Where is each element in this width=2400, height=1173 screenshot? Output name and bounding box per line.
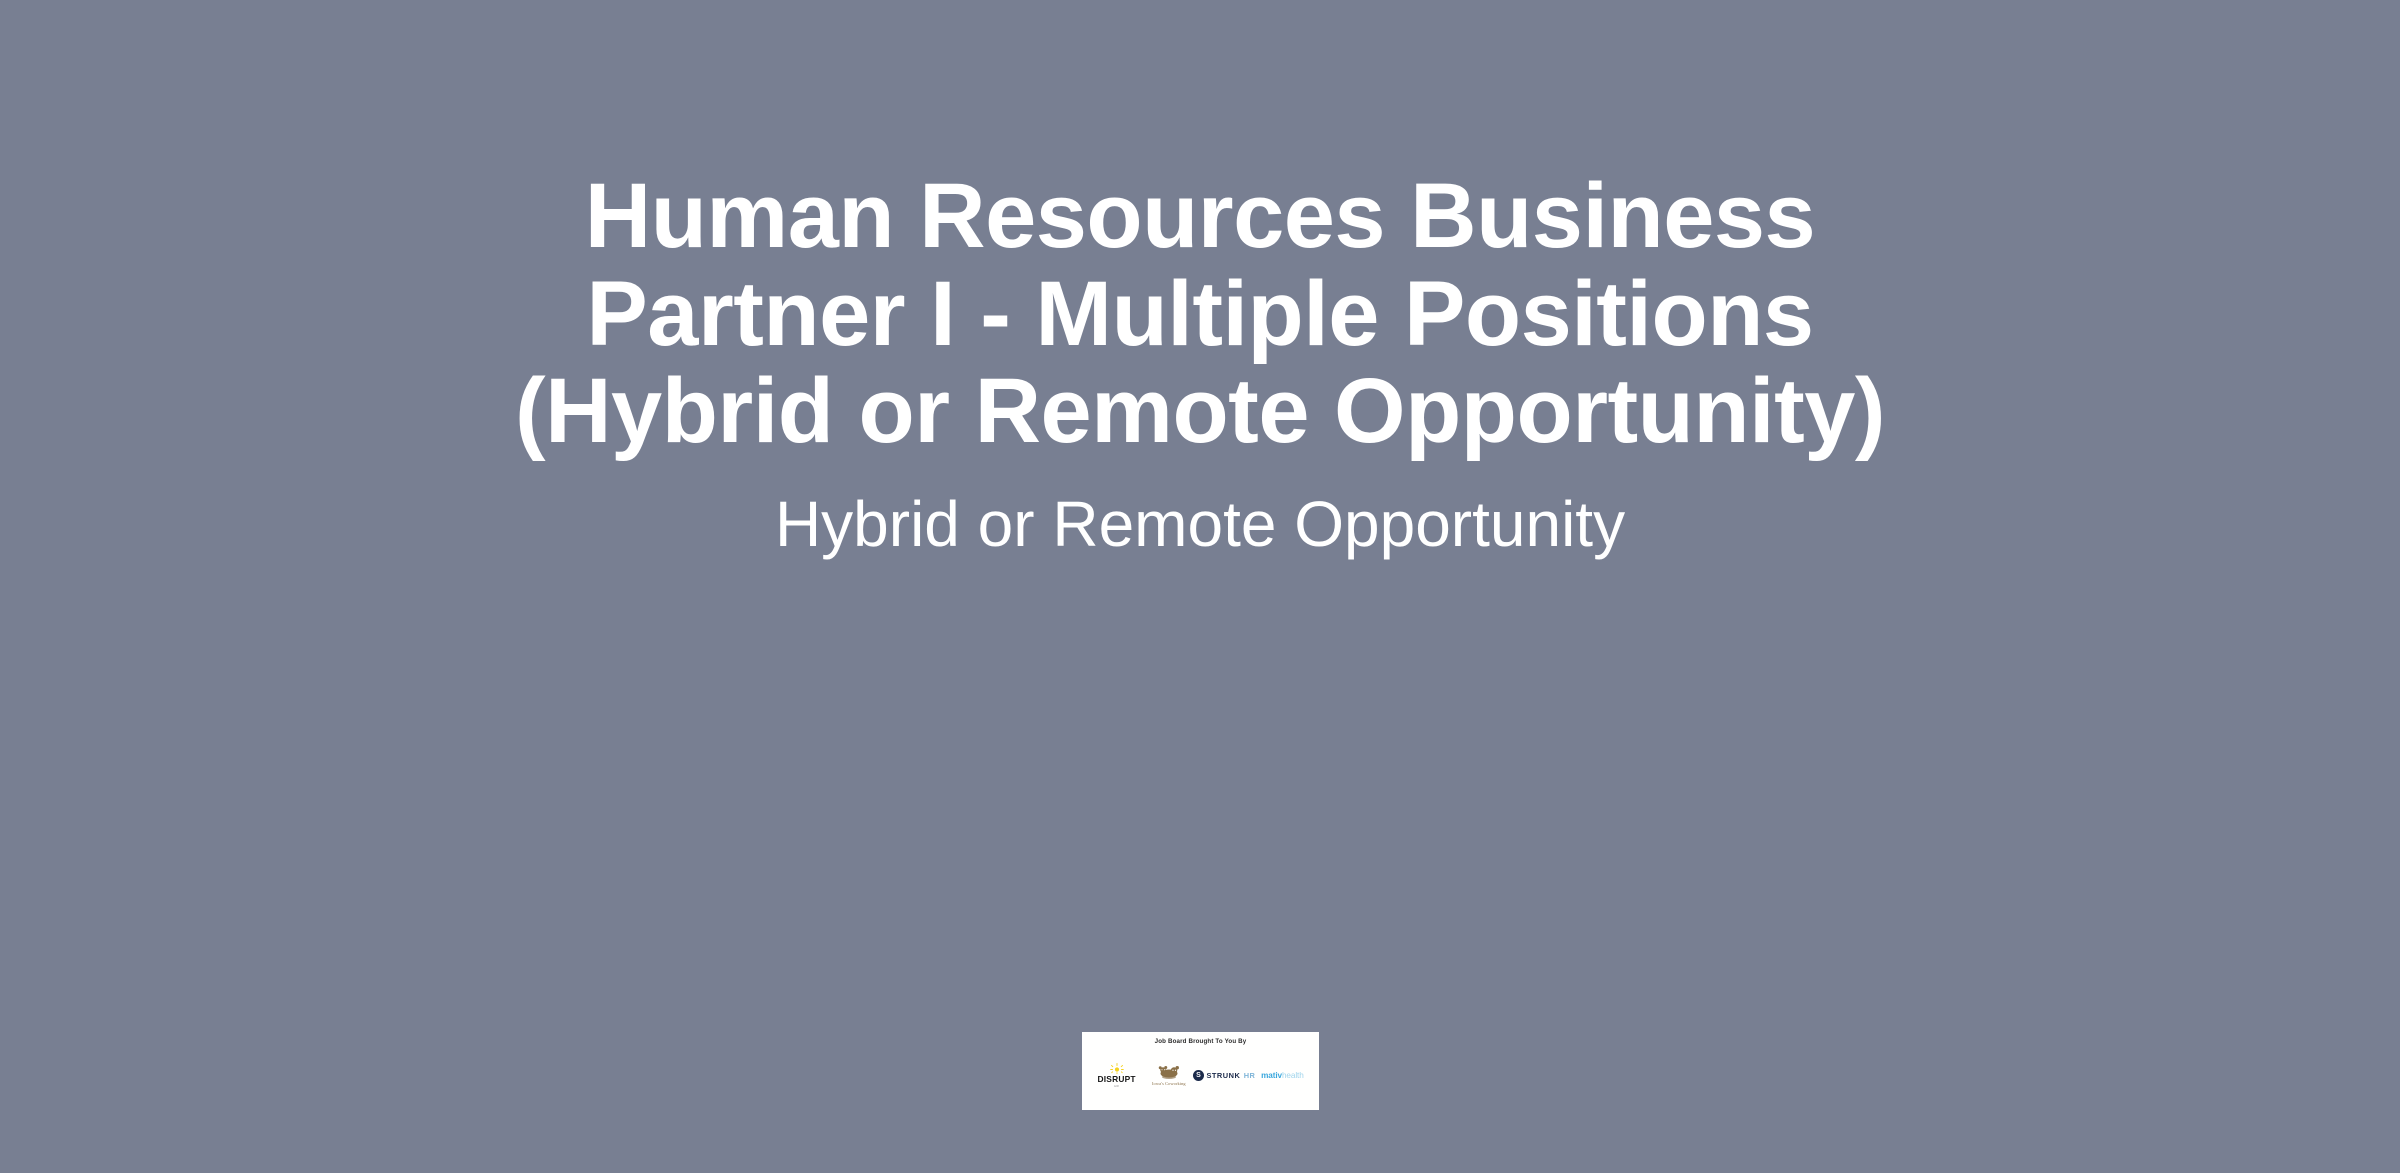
job-posting-hero: Human Resources Business Partner I - Mul…: [0, 0, 2400, 1173]
coworking-wordmark: Iowa's Coworking: [1152, 1082, 1186, 1086]
disrupt-wordmark: DISRUPT: [1098, 1075, 1136, 1083]
sponsor-logo-coworking[interactable]: Iowa's Coworking: [1144, 1045, 1194, 1106]
strunk-wordmark: STRUNK: [1206, 1072, 1240, 1079]
mativhealth-wordmark-second: health: [1282, 1072, 1304, 1080]
sponsor-logo-strunk-hr[interactable]: S STRUNK HR: [1195, 1045, 1253, 1106]
sponsor-logo-row: DISRUPT HR: [1082, 1045, 1319, 1110]
sunburst-icon: [1110, 1063, 1124, 1074]
page-title: Human Resources Business Partner I - Mul…: [420, 168, 1980, 461]
sponsor-logo-disrupt[interactable]: DISRUPT HR: [1091, 1045, 1143, 1106]
strunk-badge-icon: S: [1193, 1070, 1204, 1081]
page-subtitle: Hybrid or Remote Opportunity: [420, 487, 1980, 563]
sponsor-card: Job Board Brought To You By: [1082, 1032, 1319, 1110]
mativhealth-wordmark-first: mativ: [1261, 1072, 1282, 1080]
disrupt-tagline: HR: [1114, 1085, 1119, 1088]
sponsor-logo-mativhealth[interactable]: mativ health: [1254, 1045, 1310, 1106]
strunk-badge-letter: S: [1196, 1072, 1201, 1079]
title-block: Human Resources Business Partner I - Mul…: [420, 168, 1980, 562]
bear-icon: [1155, 1065, 1183, 1080]
